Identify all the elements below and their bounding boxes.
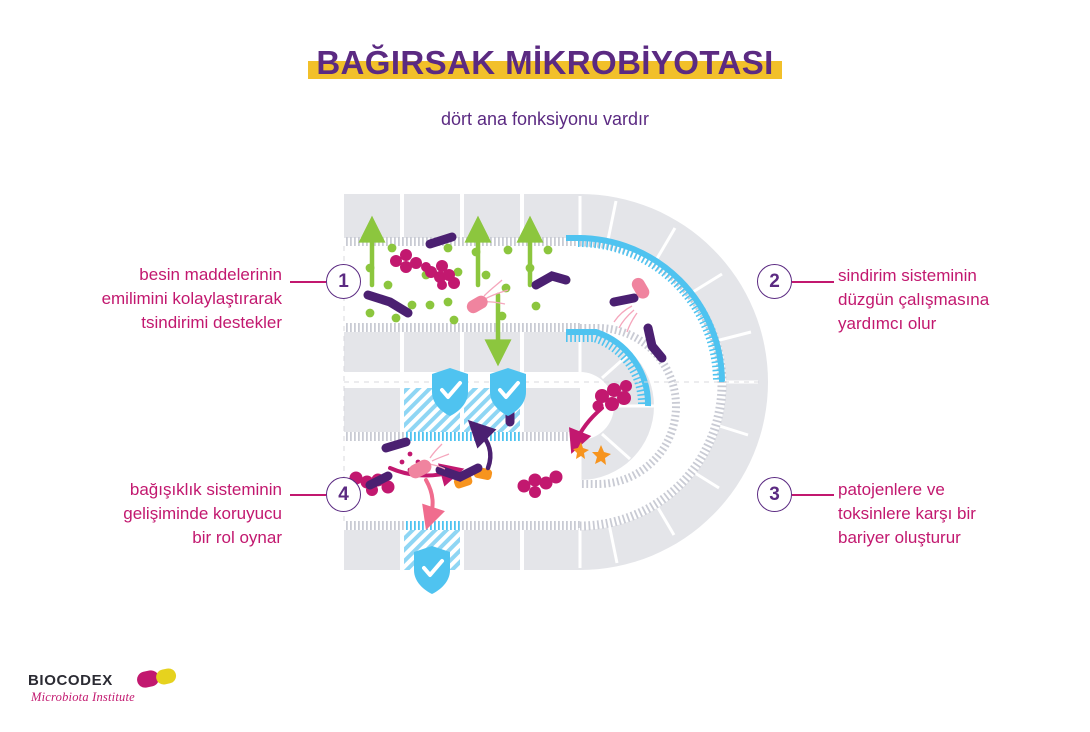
logo-wordmark: BIOCODEX	[28, 672, 113, 689]
callout-2-line-3: yardımcı olur	[838, 312, 1078, 336]
capsule-icon	[136, 668, 180, 690]
page-subtitle: dört ana fonksiyonu vardır	[0, 109, 1090, 130]
callout-4-line-3: bir rol oynar	[20, 526, 282, 550]
purple-rod-q4c	[440, 468, 478, 477]
number-badge-4[interactable]: 4	[326, 477, 361, 512]
callout-1-line-2: emilimini kolaylaştırarak	[20, 287, 282, 311]
magenta-cocci-chain-q2	[390, 249, 431, 273]
number-badge-3[interactable]: 3	[757, 477, 792, 512]
callout-text-1: besin maddelerinin emilimini kolaylaştır…	[20, 263, 282, 335]
pink-flagellated-bacterium-q1	[464, 280, 508, 316]
callout-3-line-1: patojenlere ve	[838, 478, 1078, 502]
purple-rod-q2a	[614, 298, 634, 302]
callout-4-line-2: gelişiminde koruyucu	[20, 502, 282, 526]
connector-line-1	[290, 281, 326, 283]
brand-logo[interactable]: BIOCODEX Microbiota Institute	[28, 668, 193, 716]
callout-2-line-2: düzgün çalışmasına	[838, 288, 1078, 312]
purple-rod-q4a	[386, 442, 406, 448]
shield-check-icon-3	[414, 546, 450, 594]
callout-1-line-3: tsindirimi destekler	[20, 311, 282, 335]
number-badge-2[interactable]: 2	[757, 264, 792, 299]
magenta-cocci-chain-q4	[518, 471, 563, 499]
logo-tagline: Microbiota Institute	[31, 690, 135, 705]
villi-fringe-midtop	[344, 323, 580, 332]
callout-text-4: bağışıklık sisteminin gelişiminde koruyu…	[20, 478, 282, 550]
title-wrap: BAĞIRSAK MİKROBİYOTASI	[316, 46, 773, 81]
connector-line-4	[290, 494, 326, 496]
callout-text-3: patojenlere ve toksinlere karşı bir bari…	[838, 478, 1078, 550]
callout-text-2: sindirim sisteminin düzgün çalışmasına y…	[838, 264, 1078, 336]
wall-segment-group-bottom	[344, 530, 580, 570]
callout-2-line-1: sindirim sisteminin	[838, 264, 1078, 288]
villi-fringe-top	[344, 237, 580, 246]
purple-rod-q2b	[648, 328, 662, 358]
wall-segment-group-midtop	[344, 332, 580, 372]
wall-segment-group-top	[344, 194, 580, 238]
purple-rod-2	[368, 295, 408, 313]
callout-3-line-2: toksinlere karşı bir	[838, 502, 1078, 526]
callout-3-line-3: bariyer oluşturur	[838, 526, 1078, 550]
page-title: BAĞIRSAK MİKROBİYOTASI	[316, 44, 773, 81]
pink-curved-arrow	[426, 480, 433, 518]
number-badge-1[interactable]: 1	[326, 264, 361, 299]
infographic-canvas: BAĞIRSAK MİKROBİYOTASI dört ana fonksiyo…	[0, 0, 1090, 732]
page-title-block: BAĞIRSAK MİKROBİYOTASI	[0, 46, 1090, 81]
gut-diagram	[330, 180, 830, 600]
callout-1-line-1: besin maddelerinin	[20, 263, 282, 287]
callout-4-line-1: bağışıklık sisteminin	[20, 478, 282, 502]
purple-rod-3	[536, 276, 566, 285]
